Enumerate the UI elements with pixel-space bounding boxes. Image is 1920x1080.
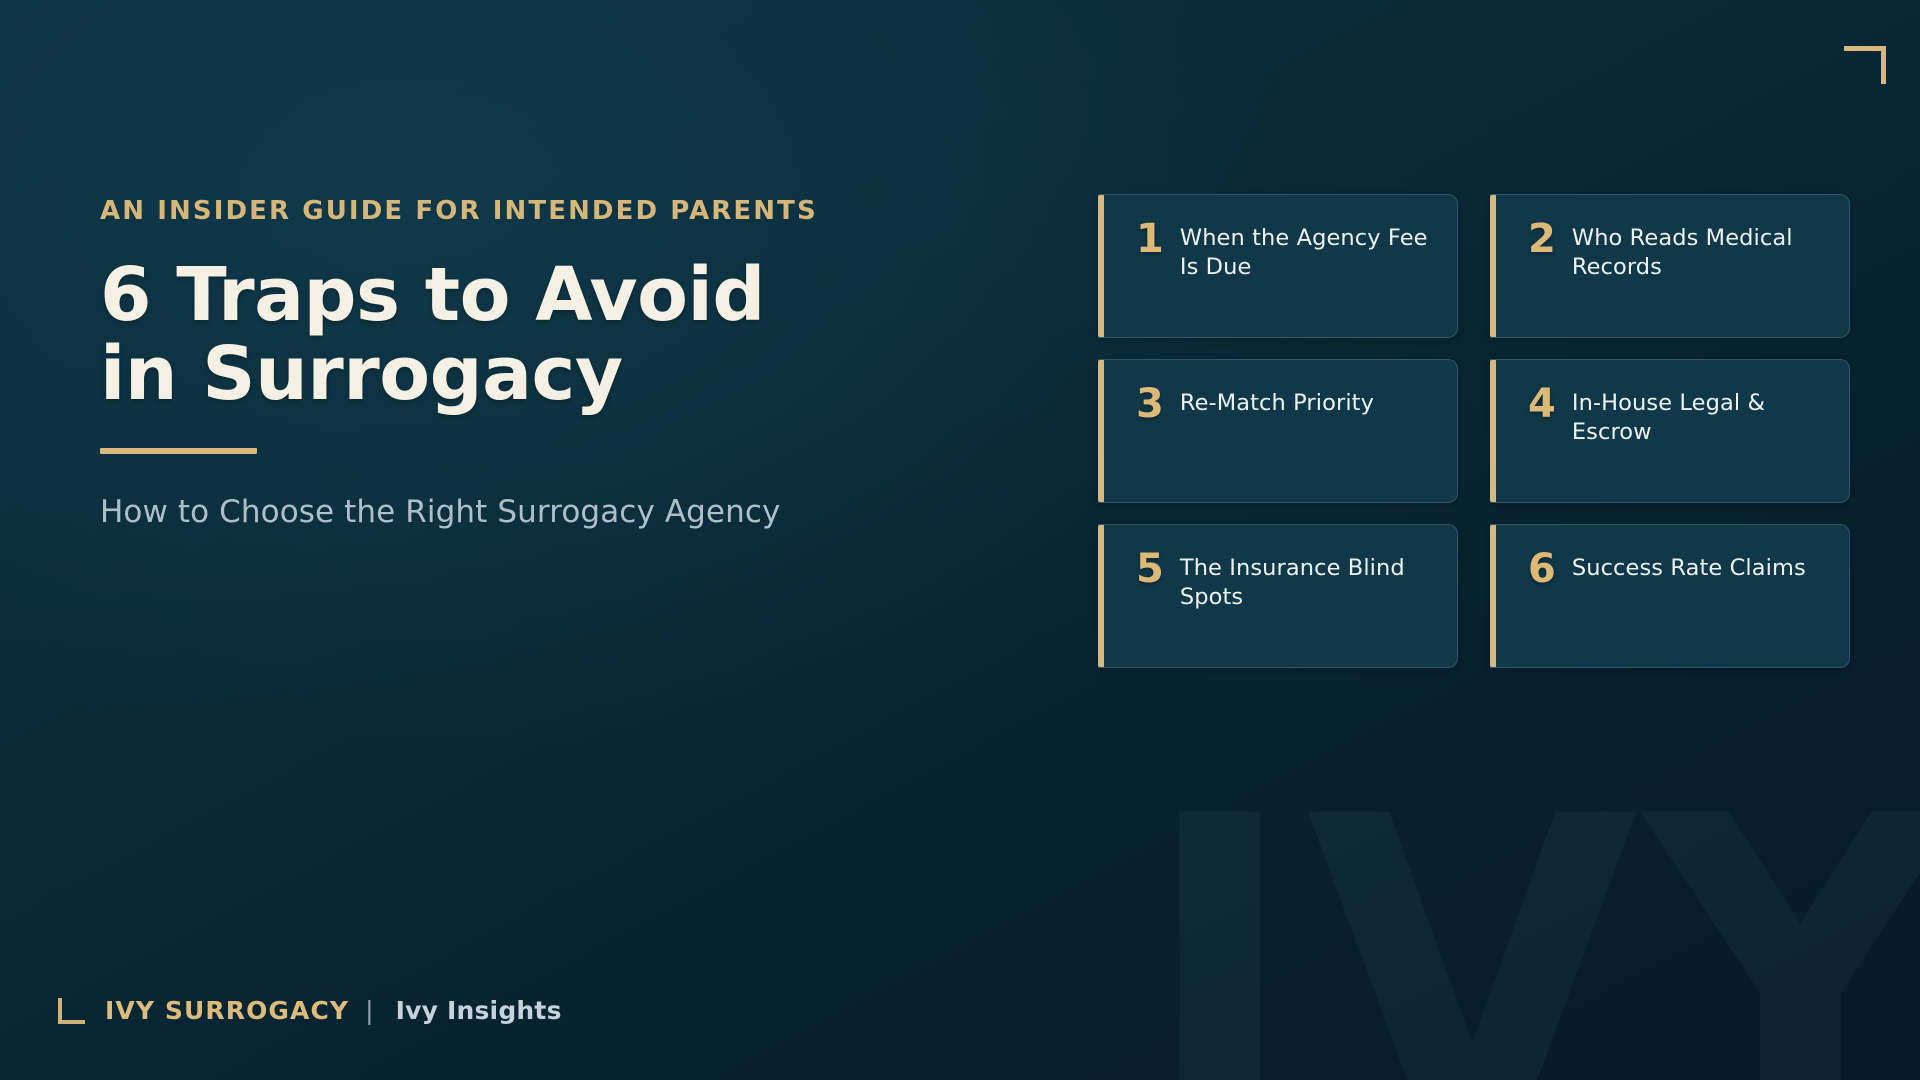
trap-card-label: In-House Legal & Escrow: [1572, 386, 1829, 447]
trap-card-grid: 1 When the Agency Fee Is Due 2 Who Reads…: [1098, 194, 1850, 668]
trap-card-label: Success Rate Claims: [1572, 551, 1806, 583]
trap-card-3[interactable]: 3 Re-Match Priority: [1098, 359, 1458, 503]
trap-card-2[interactable]: 2 Who Reads Medical Records: [1490, 194, 1850, 338]
eyebrow-label: AN INSIDER GUIDE FOR INTENDED PARENTS: [100, 196, 920, 226]
top-right-corner-bracket-icon: [1844, 46, 1886, 84]
subtitle: How to Choose the Right Surrogacy Agency: [100, 494, 920, 530]
trap-card-6[interactable]: 6 Success Rate Claims: [1490, 524, 1850, 668]
headline-line-1: 6 Traps to Avoid: [100, 256, 920, 335]
trap-card-number: 1: [1136, 221, 1164, 258]
trap-card-label: The Insurance Blind Spots: [1180, 551, 1437, 612]
headline-line-2: in Surrogacy: [100, 335, 920, 414]
footer-series-name: Ivy Insights: [396, 996, 562, 1025]
footer-separator: |: [365, 996, 373, 1025]
page-title: 6 Traps to Avoid in Surrogacy: [100, 256, 920, 414]
trap-card-label: Who Reads Medical Records: [1572, 221, 1829, 282]
footer-bracket-horizontal: [58, 1020, 85, 1024]
corner-bracket-horizontal: [1844, 46, 1886, 51]
footer-branding: IVY SURROGACY | Ivy Insights: [58, 996, 562, 1025]
hero-text-block: AN INSIDER GUIDE FOR INTENDED PARENTS 6 …: [100, 196, 920, 530]
trap-card-number: 2: [1528, 221, 1556, 258]
corner-bracket-icon: [58, 998, 85, 1024]
trap-card-number: 4: [1528, 386, 1556, 423]
corner-bracket-vertical: [1881, 46, 1886, 84]
gold-divider: [100, 448, 257, 454]
footer-brand-name: IVY SURROGACY: [105, 996, 349, 1025]
trap-card-number: 3: [1136, 386, 1164, 423]
ivy-watermark: IVY: [1140, 762, 1920, 1080]
trap-card-number: 6: [1528, 551, 1556, 588]
trap-card-number: 5: [1136, 551, 1164, 588]
trap-card-5[interactable]: 5 The Insurance Blind Spots: [1098, 524, 1458, 668]
slide-canvas: IVY AN INSIDER GUIDE FOR INTENDED PARENT…: [0, 0, 1920, 1080]
trap-card-4[interactable]: 4 In-House Legal & Escrow: [1490, 359, 1850, 503]
trap-card-label: When the Agency Fee Is Due: [1180, 221, 1437, 282]
trap-card-label: Re-Match Priority: [1180, 386, 1374, 418]
trap-card-1[interactable]: 1 When the Agency Fee Is Due: [1098, 194, 1458, 338]
